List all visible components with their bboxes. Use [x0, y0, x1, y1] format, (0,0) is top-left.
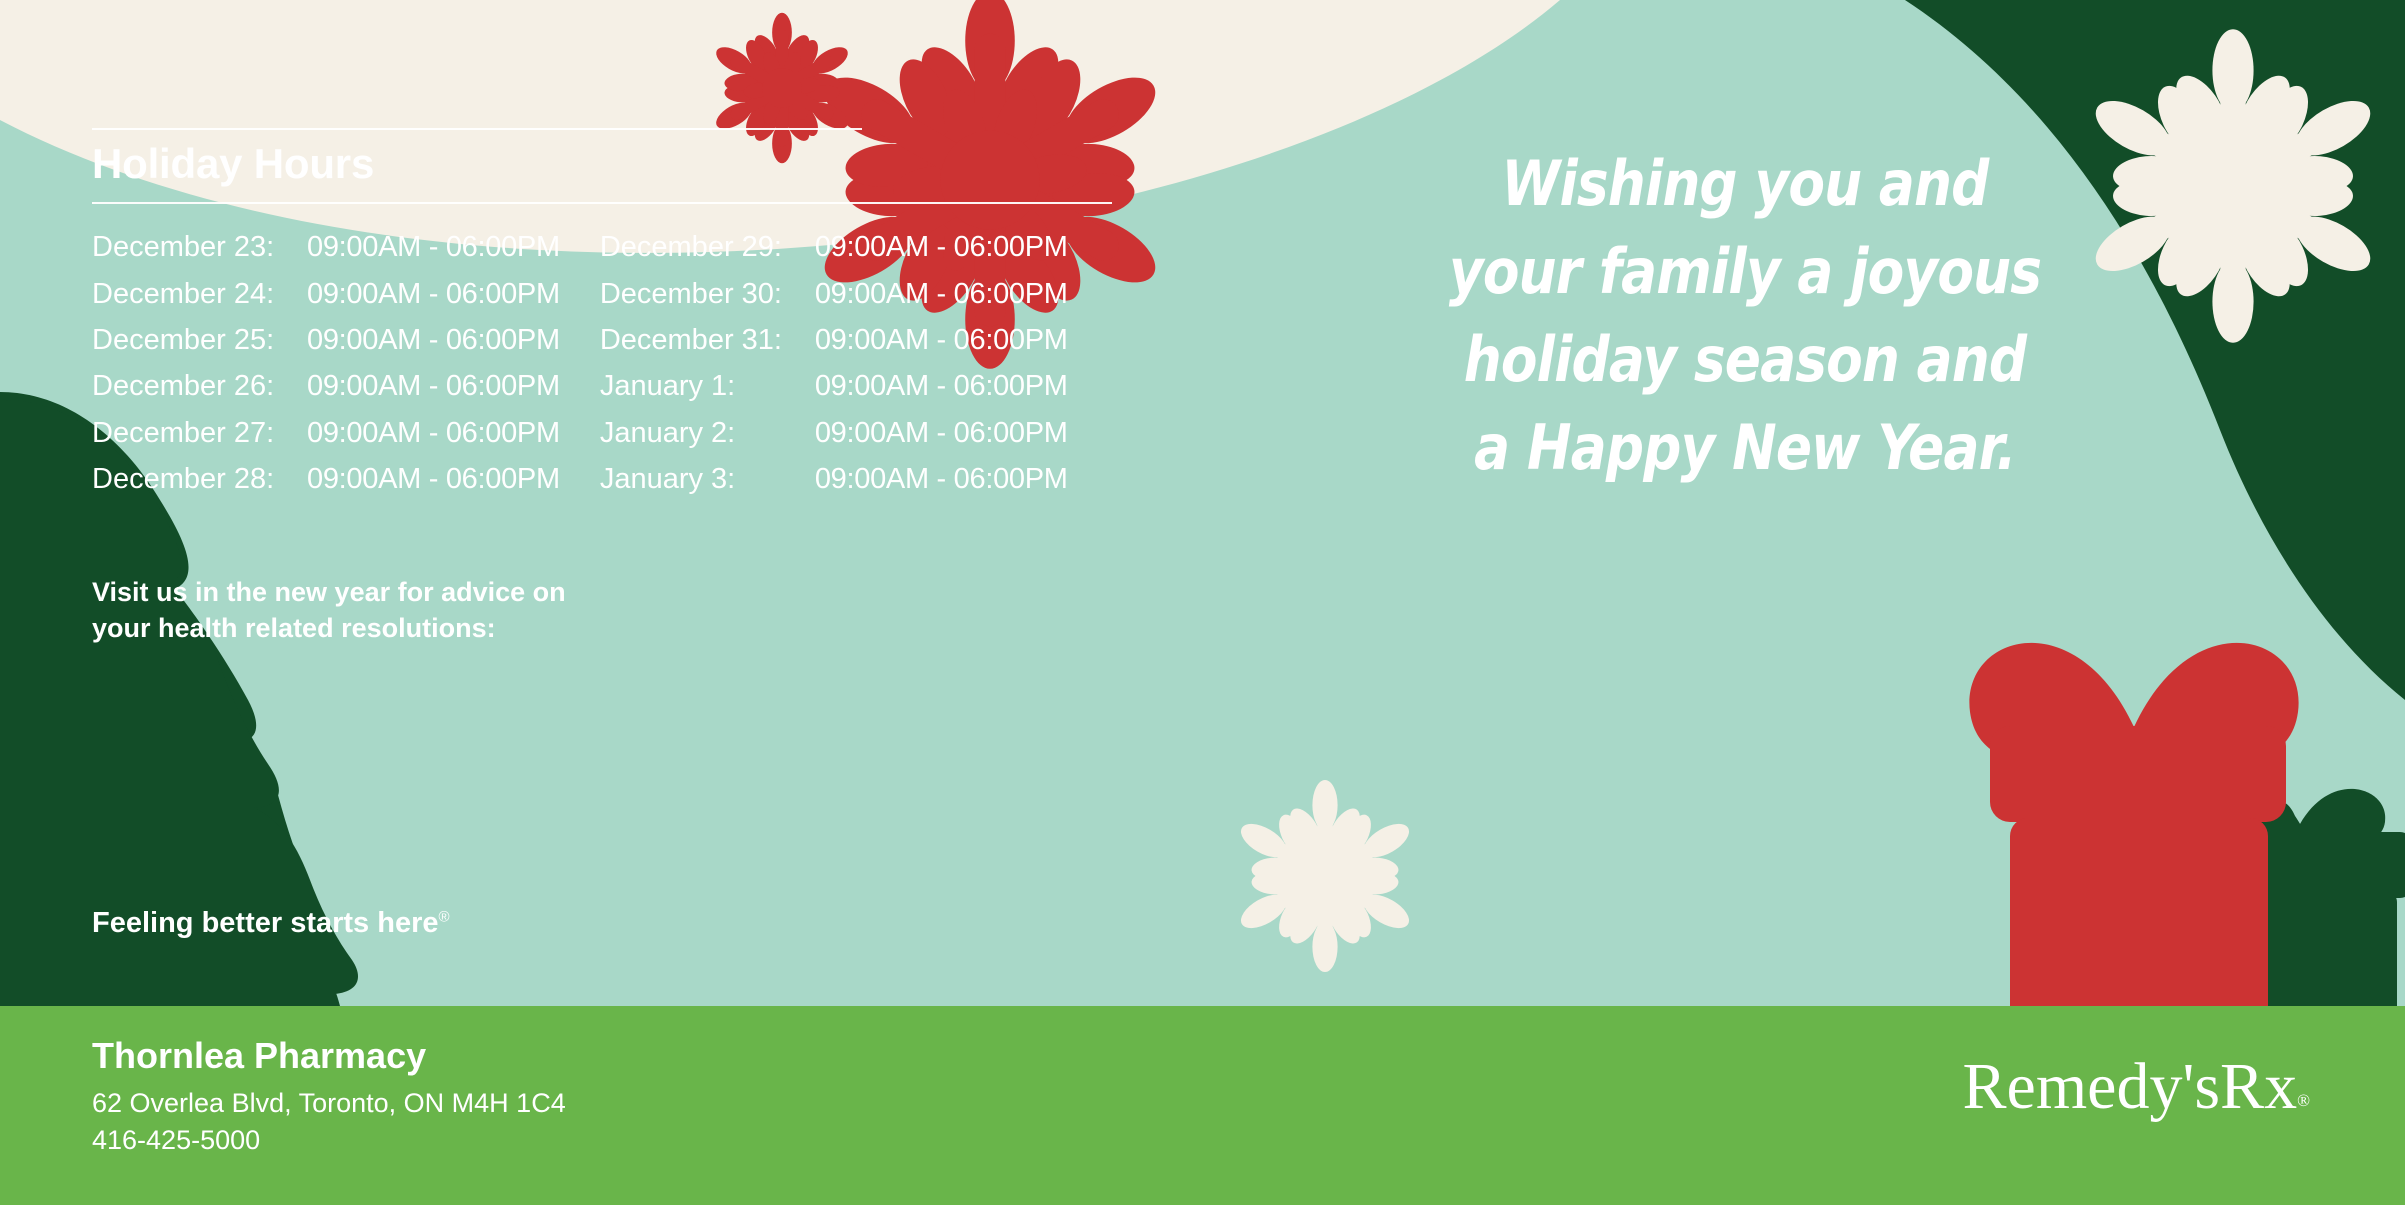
visit-line-2: your health related resolutions: [92, 611, 566, 647]
hours-day: December 25: [92, 325, 307, 356]
hours-row: January 2: 09:00AM - 06:00PM [600, 418, 1068, 449]
hours-time: 09:00AM - 06:00PM [307, 371, 560, 402]
hours-day: December 26: [92, 371, 307, 402]
hours-row: January 3: 09:00AM - 06:00PM [600, 464, 1068, 495]
hours-time: 09:00AM - 06:00PM [815, 464, 1068, 495]
hours-row: December 25: 09:00AM - 06:00PM [92, 325, 560, 356]
greeting-line-1: Wishing you and [1388, 140, 2102, 228]
hours-time: 09:00AM - 06:00PM [815, 279, 1068, 310]
hours-time: 09:00AM - 06:00PM [307, 464, 560, 495]
pharmacy-phone: 416-425-5000 [92, 1122, 566, 1158]
greeting-message: Wishing you and your family a joyous hol… [1330, 140, 2160, 492]
holiday-banner: Holiday Hours December 23: 09:00AM - 06:… [0, 0, 2405, 1205]
pharmacy-contact-info: Thornlea Pharmacy 62 Overlea Blvd, Toron… [92, 1034, 566, 1158]
pharmacy-address: 62 Overlea Blvd, Toronto, ON M4H 1C4 [92, 1085, 566, 1121]
hours-day: January 3: [600, 464, 815, 495]
logo-wordmark: Remedy'sRx [1963, 1050, 2298, 1123]
hours-day: January 1: [600, 371, 815, 402]
hours-time: 09:00AM - 06:00PM [815, 371, 1068, 402]
footer-bar: Thornlea Pharmacy 62 Overlea Blvd, Toron… [0, 1006, 2405, 1205]
holiday-hours-section: Holiday Hours December 23: 09:00AM - 06:… [92, 128, 1122, 510]
tagline-text: Feeling better starts here [92, 907, 439, 939]
hours-day: December 24: [92, 279, 307, 310]
hours-row: December 24: 09:00AM - 06:00PM [92, 279, 560, 310]
hours-row: December 26: 09:00AM - 06:00PM [92, 371, 560, 402]
hours-row: December 30: 09:00AM - 06:00PM [600, 279, 1068, 310]
hours-time: 09:00AM - 06:00PM [815, 325, 1068, 356]
hours-row: December 29: 09:00AM - 06:00PM [600, 232, 1068, 263]
tagline-registered-mark: ® [439, 908, 450, 925]
hours-day: December 31: [600, 325, 815, 356]
hours-day: December 29: [600, 232, 815, 263]
hours-day: December 28: [92, 464, 307, 495]
logo-registered-mark: ® [2297, 1091, 2310, 1110]
hours-row: January 1: 09:00AM - 06:00PM [600, 371, 1068, 402]
hours-column-1: December 23: 09:00AM - 06:00PM December … [92, 232, 560, 510]
hours-time: 09:00AM - 06:00PM [307, 279, 560, 310]
remedysrx-logo: Remedy'sRx® [1963, 1054, 2310, 1120]
hours-day: December 27: [92, 418, 307, 449]
greeting-line-2: your family a joyous [1388, 228, 2102, 316]
visit-us-message: Visit us in the new year for advice on y… [92, 575, 566, 647]
hours-time: 09:00AM - 06:00PM [307, 325, 560, 356]
hours-time: 09:00AM - 06:00PM [307, 232, 560, 263]
brand-tagline: Feeling better starts here® [92, 907, 450, 940]
hours-row: December 31: 09:00AM - 06:00PM [600, 325, 1068, 356]
hours-columns: December 23: 09:00AM - 06:00PM December … [92, 232, 1122, 510]
hours-day: December 23: [92, 232, 307, 263]
greeting-line-3: holiday season and [1388, 316, 2102, 404]
hours-time: 09:00AM - 06:00PM [815, 232, 1068, 263]
hours-time: 09:00AM - 06:00PM [815, 418, 1068, 449]
pharmacy-name: Thornlea Pharmacy [92, 1034, 566, 1077]
hours-day: January 2: [600, 418, 815, 449]
hours-top-rule [92, 128, 862, 130]
hours-time: 09:00AM - 06:00PM [307, 418, 560, 449]
holiday-hours-title: Holiday Hours [92, 140, 1122, 194]
hours-row: December 23: 09:00AM - 06:00PM [92, 232, 560, 263]
hours-row: December 28: 09:00AM - 06:00PM [92, 464, 560, 495]
greeting-line-4: a Happy New Year. [1388, 404, 2102, 492]
hours-bottom-rule [92, 202, 1112, 204]
hours-day: December 30: [600, 279, 815, 310]
hours-row: December 27: 09:00AM - 06:00PM [92, 418, 560, 449]
hours-column-2: December 29: 09:00AM - 06:00PM December … [600, 232, 1068, 510]
visit-line-1: Visit us in the new year for advice on [92, 575, 566, 611]
